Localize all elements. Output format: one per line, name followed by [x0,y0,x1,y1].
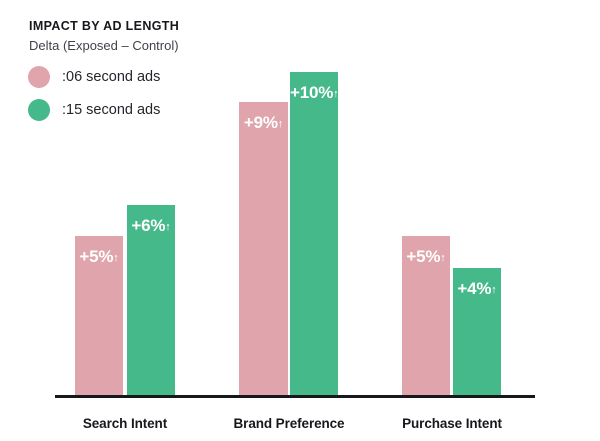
bar-value-label: +5%↑ [402,248,450,265]
bar-brand-preference-06: +9%↑ [239,102,288,395]
bar-value-label: +5%↑ [75,248,123,265]
up-arrow-icon: ↑ [113,252,118,264]
category-label-purchase-intent: Purchase Intent [376,416,528,431]
bar-search-intent-15: +6%↑ [127,205,175,395]
bar-purchase-intent-15: +4%↑ [453,268,501,395]
up-arrow-icon: ↑ [165,221,170,233]
axis-baseline [55,395,535,398]
up-arrow-icon: ↑ [491,284,496,296]
category-label-search-intent: Search Intent [50,416,200,431]
category-label-brand-preference: Brand Preference [213,416,365,431]
bar-value-label: +6%↑ [127,217,175,234]
bar-value-label: +10%↑ [290,84,338,101]
bar-purchase-intent-06: +5%↑ [402,236,450,395]
up-arrow-icon: ↑ [440,252,445,264]
chart-container: IMPACT BY AD LENGTH Delta (Exposed – Con… [0,0,600,441]
up-arrow-icon: ↑ [278,118,283,130]
plot-area: +5%↑ +6%↑ +9%↑ +10%↑ +5%↑ +4%↑ [0,0,600,441]
bar-value-label: +4%↑ [453,280,501,297]
bar-search-intent-06: +5%↑ [75,236,123,395]
bar-value-label: +9%↑ [239,114,288,131]
bar-brand-preference-15: +10%↑ [290,72,338,395]
up-arrow-icon: ↑ [333,88,338,100]
